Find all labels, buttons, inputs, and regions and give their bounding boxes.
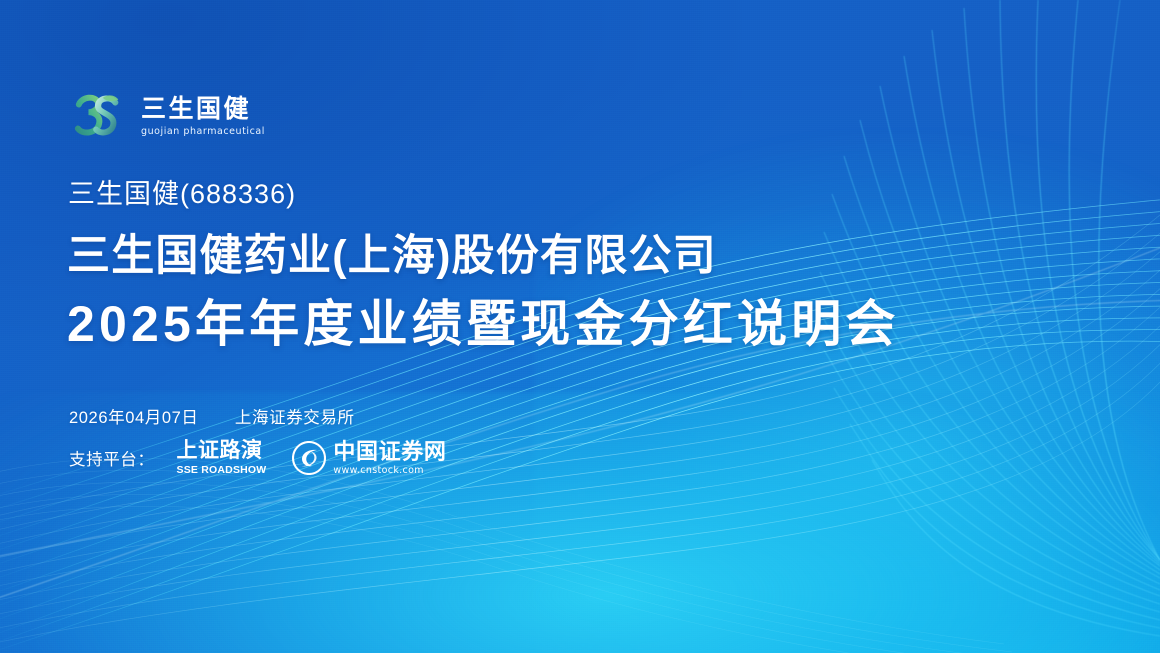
platform-cnstock[interactable]: 中国证券网 www.cnstock.com	[292, 440, 446, 475]
brand-wordmark: 三生国健 guojian pharmaceutical	[141, 97, 265, 138]
3s-monogram-icon	[73, 92, 127, 142]
event-meta: 2026年04月07日 上海证券交易所	[69, 404, 355, 428]
event-venue: 上海证券交易所	[235, 409, 355, 427]
support-platforms: 支持平台： 上证路演 SSE ROADSHOW 中国证券网 www.cnstoc…	[69, 440, 446, 476]
ticker-line: 三生国健(688336)	[68, 172, 296, 211]
sse-roadshow-name-cn: 上证路演	[177, 440, 263, 462]
brand-name-en: guojian pharmaceutical	[141, 126, 265, 137]
cnstock-name-cn: 中国证券网	[333, 440, 446, 463]
support-platforms-label: 支持平台：	[69, 446, 155, 470]
event-title: 2025年年度业绩暨现金分红说明会	[67, 284, 900, 356]
brand-logo: 三生国健 guojian pharmaceutical	[73, 92, 265, 142]
cnstock-swirl-icon	[292, 441, 326, 475]
cnstock-name-en: www.cnstock.com	[333, 465, 423, 476]
poster-content: 三生国健 guojian pharmaceutical 三生国健(688336)…	[68, 0, 1078, 653]
cnstock-wordmark: 中国证券网 www.cnstock.com	[333, 440, 446, 475]
sse-roadshow-name-en: SSE ROADSHOW	[177, 464, 267, 476]
event-date: 2026年04月07日	[69, 409, 199, 427]
company-name: 三生国健药业(上海)股份有限公司	[67, 221, 717, 283]
brand-name-cn: 三生国健	[141, 97, 265, 123]
platform-sse-roadshow[interactable]: 上证路演 SSE ROADSHOW	[177, 440, 267, 476]
event-poster: 三生国健 guojian pharmaceutical 三生国健(688336)…	[0, 0, 1160, 653]
